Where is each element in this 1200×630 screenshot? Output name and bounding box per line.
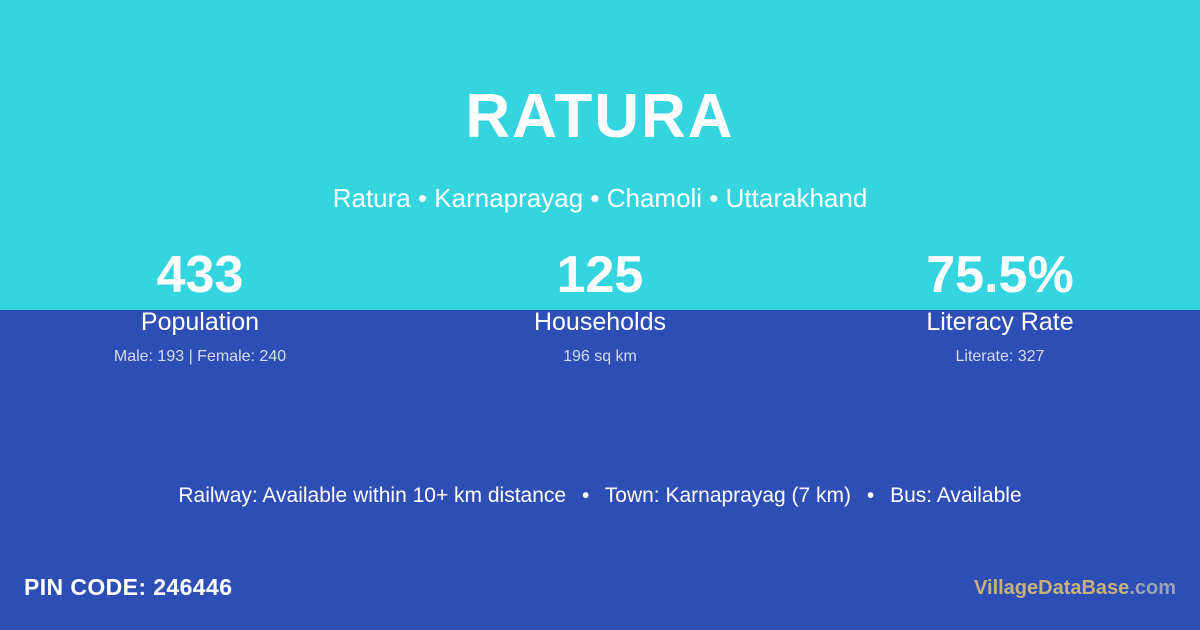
transport-separator-1: • xyxy=(572,484,599,507)
stat-literacy-value: 75.5% xyxy=(800,248,1200,303)
transport-town: Town: Karnaprayag (7 km) xyxy=(605,484,851,507)
transport-separator-2: • xyxy=(857,484,884,507)
stat-households: 125 Households 196 sq km xyxy=(400,248,800,366)
stat-literacy-label: Literacy Rate xyxy=(800,307,1200,338)
stat-households-sub: 196 sq km xyxy=(400,348,800,366)
stat-population-sub: Male: 193 | Female: 240 xyxy=(0,348,400,366)
stat-population: 433 Population Male: 193 | Female: 240 xyxy=(0,248,400,366)
transport-railway: Railway: Available within 10+ km distanc… xyxy=(178,484,566,507)
stat-literacy-sub: Literate: 327 xyxy=(800,348,1200,366)
stat-households-value: 125 xyxy=(400,248,800,303)
stats-row: 433 Population Male: 193 | Female: 240 1… xyxy=(0,248,1200,366)
stat-households-label: Households xyxy=(400,307,800,338)
breadcrumb: Ratura • Karnaprayag • Chamoli • Uttarak… xyxy=(0,183,1200,214)
stat-population-value: 433 xyxy=(0,248,400,303)
transport-info: Railway: Available within 10+ km distanc… xyxy=(0,484,1200,508)
pin-code: PIN CODE: 246446 xyxy=(24,574,232,601)
brand-tld: .com xyxy=(1129,577,1176,599)
stat-literacy: 75.5% Literacy Rate Literate: 327 xyxy=(800,248,1200,366)
page-title: RATURA xyxy=(0,86,1200,148)
stat-population-label: Population xyxy=(0,307,400,338)
village-info-card: RATURA Ratura • Karnaprayag • Chamoli • … xyxy=(0,0,1200,630)
site-brand: VillageDataBase.com xyxy=(974,577,1176,600)
brand-name: VillageDataBase xyxy=(974,577,1129,599)
transport-bus: Bus: Available xyxy=(890,484,1022,507)
